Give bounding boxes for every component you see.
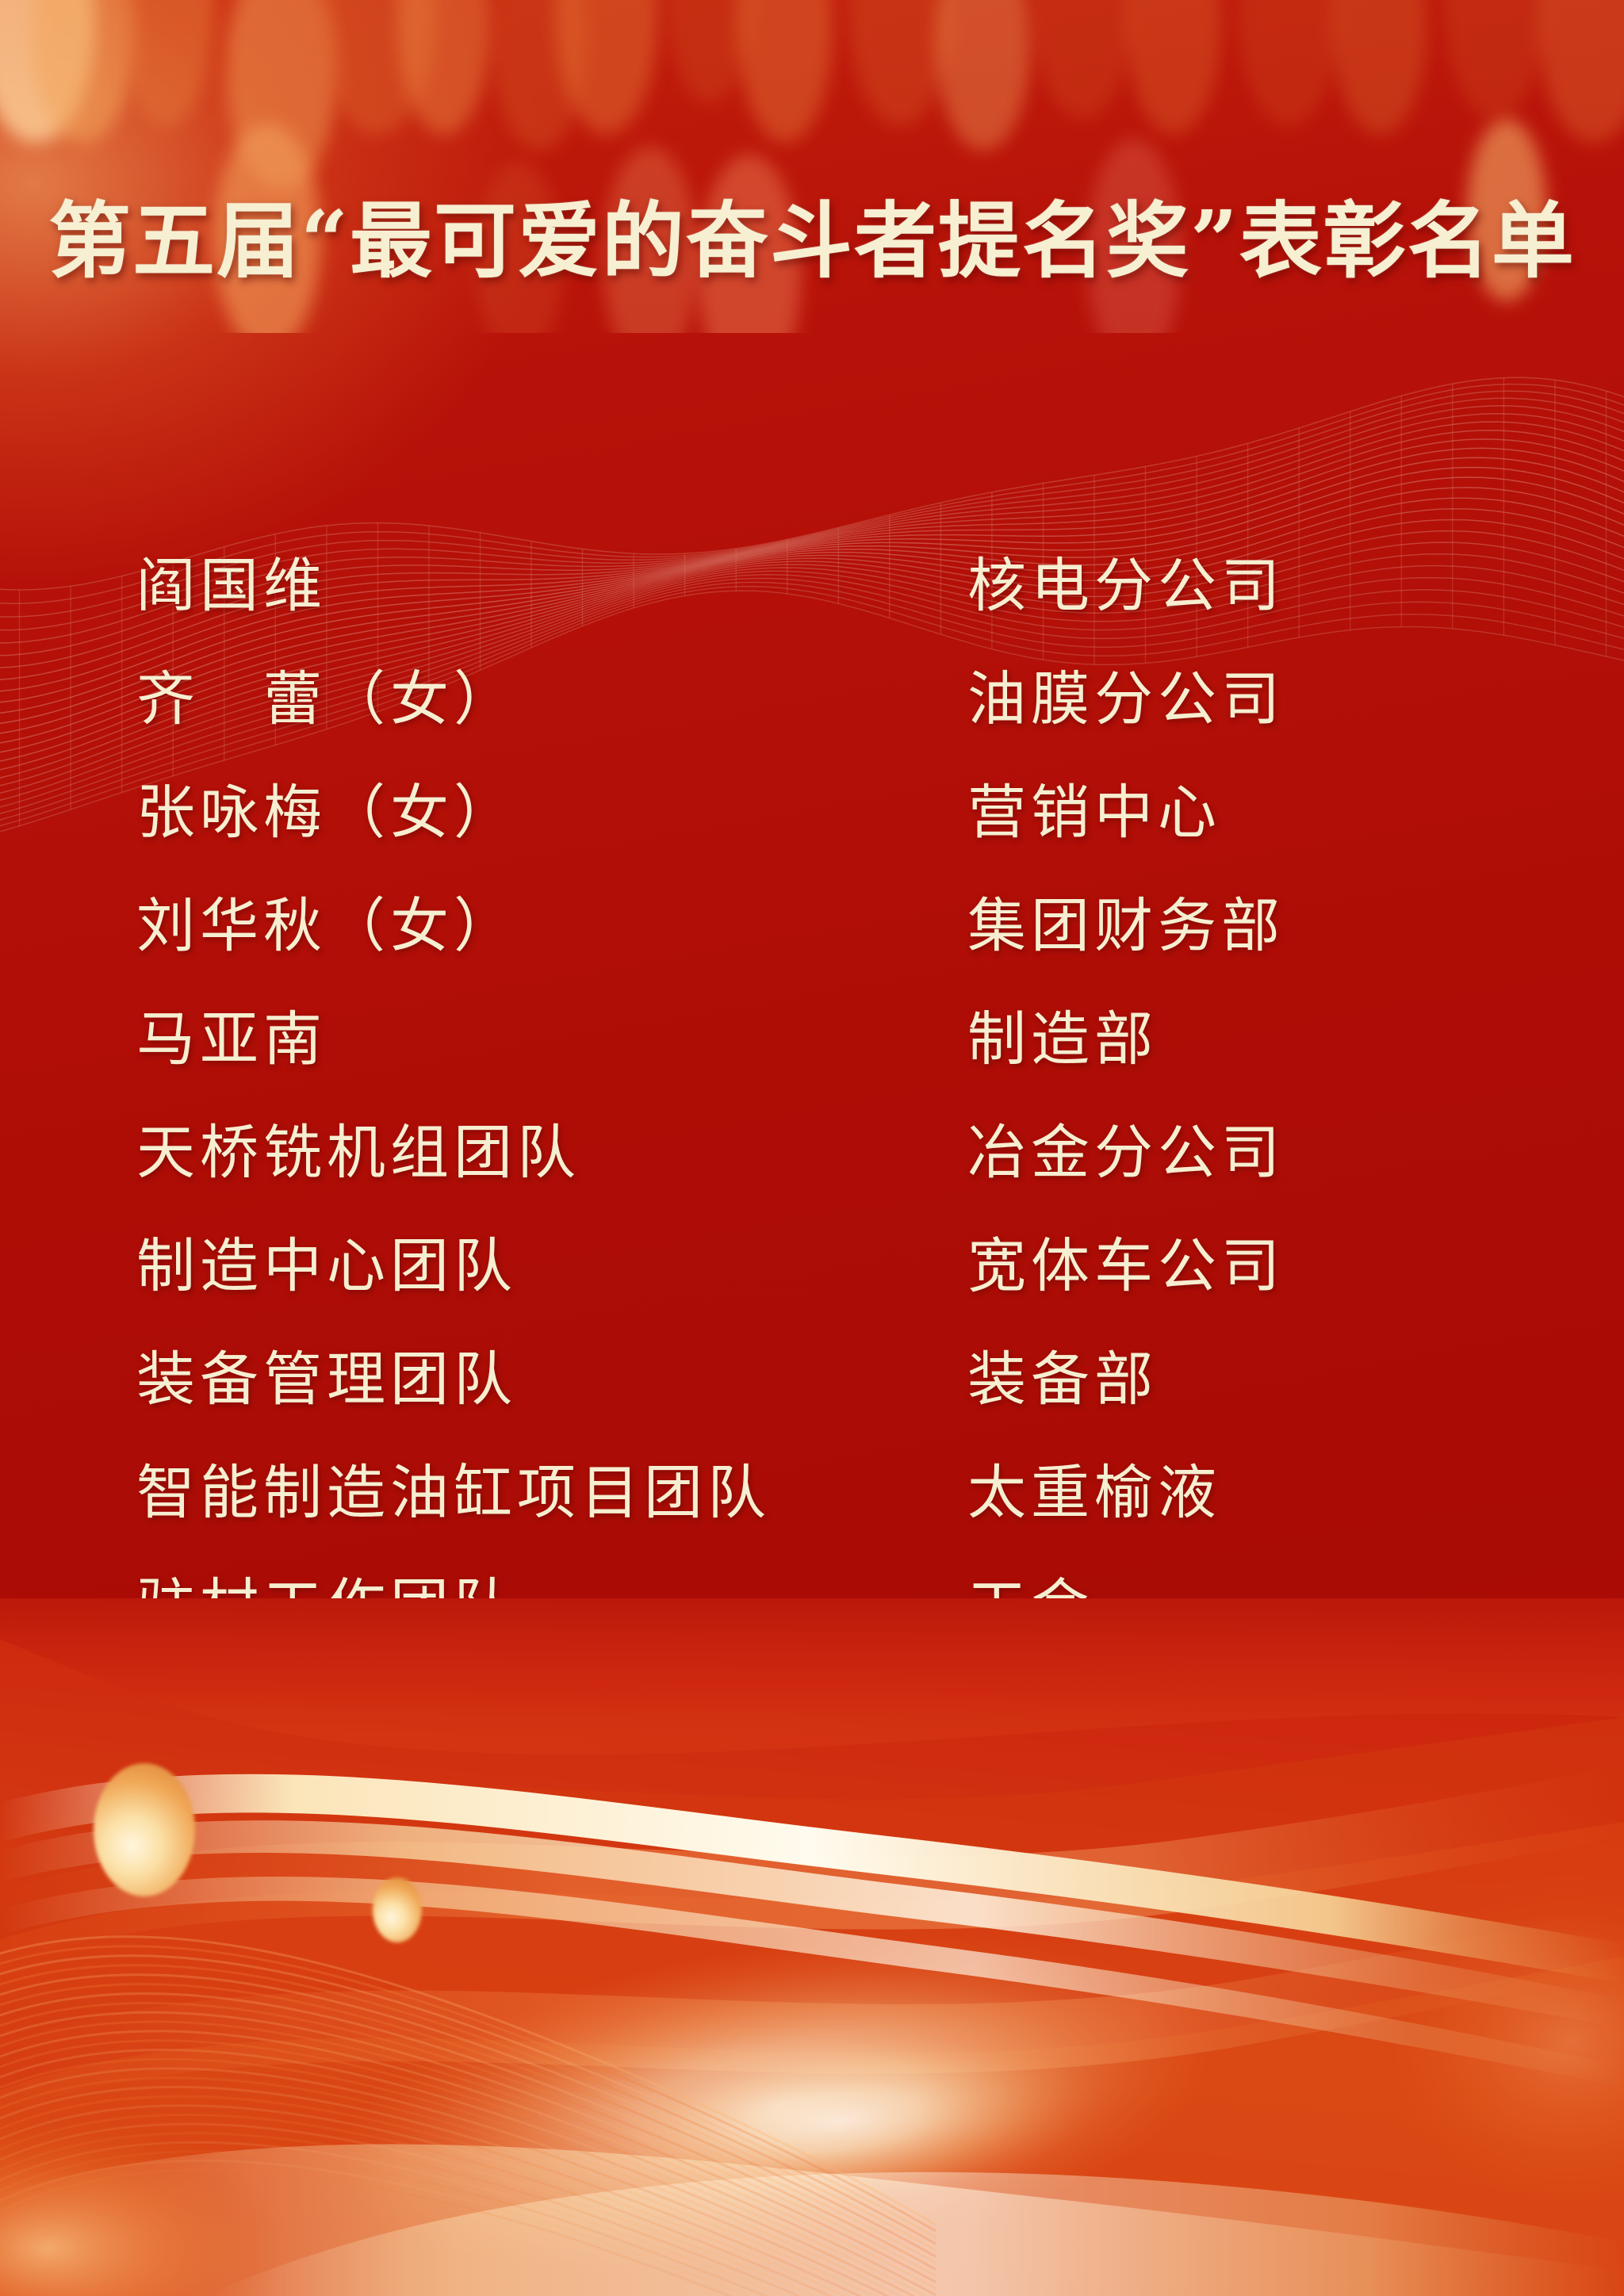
honoree-row: 马亚南制造部 [0,983,1624,1096]
honoree-name: 阎国维 [0,530,967,643]
bokeh-ellipse [1237,0,1340,127]
bokeh-ellipse [1031,0,1134,119]
bokeh-orb-small [373,1877,422,1942]
honoree-row: 张咏梅（女）营销中心 [0,756,1624,870]
honoree-unit: 宽体车公司 [967,1210,1624,1323]
honoree-name: 马亚南 [0,983,967,1096]
bokeh-ellipse [1332,0,1427,135]
honoree-unit: 装备部 [967,1323,1624,1437]
honoree-unit: 营销中心 [967,756,1624,870]
honoree-name: 刘华秋（女） [0,870,967,983]
honoree-row: 阎国维核电分公司 [0,530,1624,643]
bokeh-ellipse [936,0,1031,151]
honoree-row: 智能制造油缸项目团队太重榆液 [0,1437,1624,1550]
honoree-unit: 核电分公司 [967,530,1624,643]
honoree-name: 张咏梅（女） [0,756,967,870]
award-poster: 第五届“最可爱的奋斗者提名奖”表彰名单 阎国维核电分公司齐 蕾（女）油膜分公司张… [0,0,1624,2296]
honoree-row: 制造中心团队宽体车公司 [0,1210,1624,1323]
honoree-name: 天桥铣机组团队 [0,1096,967,1210]
bokeh-ellipse [396,0,492,135]
honoree-name: 齐 蕾（女） [0,643,967,756]
page-title: 第五届“最可爱的奋斗者提名奖”表彰名单 [0,190,1624,292]
honoree-name: 装备管理团队 [0,1323,967,1437]
honoree-list: 阎国维核电分公司齐 蕾（女）油膜分公司张咏梅（女）营销中心刘华秋（女）集团财务部… [0,530,1624,1663]
honoree-unit: 集团财务部 [967,870,1624,983]
honoree-unit: 制造部 [967,983,1624,1096]
honoree-name: 制造中心团队 [0,1210,967,1323]
honoree-row: 天桥铣机组团队冶金分公司 [0,1096,1624,1210]
bokeh-ellipse [1126,0,1221,135]
bokeh-ellipse [737,0,833,143]
honoree-row: 装备管理团队装备部 [0,1323,1624,1437]
honoree-unit: 冶金分公司 [967,1096,1624,1210]
ribbon-streaks [0,1598,1624,2296]
honoree-row: 齐 蕾（女）油膜分公司 [0,643,1624,756]
bokeh-ellipse [1538,0,1624,143]
honoree-unit: 油膜分公司 [967,643,1624,756]
bokeh-ellipse [1443,0,1546,119]
honoree-name: 智能制造油缸项目团队 [0,1437,967,1550]
bokeh-ellipse [119,0,214,127]
bokeh-orb-large [94,1763,195,1896]
honoree-row: 刘华秋（女）集团财务部 [0,870,1624,983]
honoree-unit: 太重榆液 [967,1437,1624,1550]
golden-light-ribbon-decoration [0,1598,1624,2296]
ribbon-dark-wave [0,1598,1624,1755]
